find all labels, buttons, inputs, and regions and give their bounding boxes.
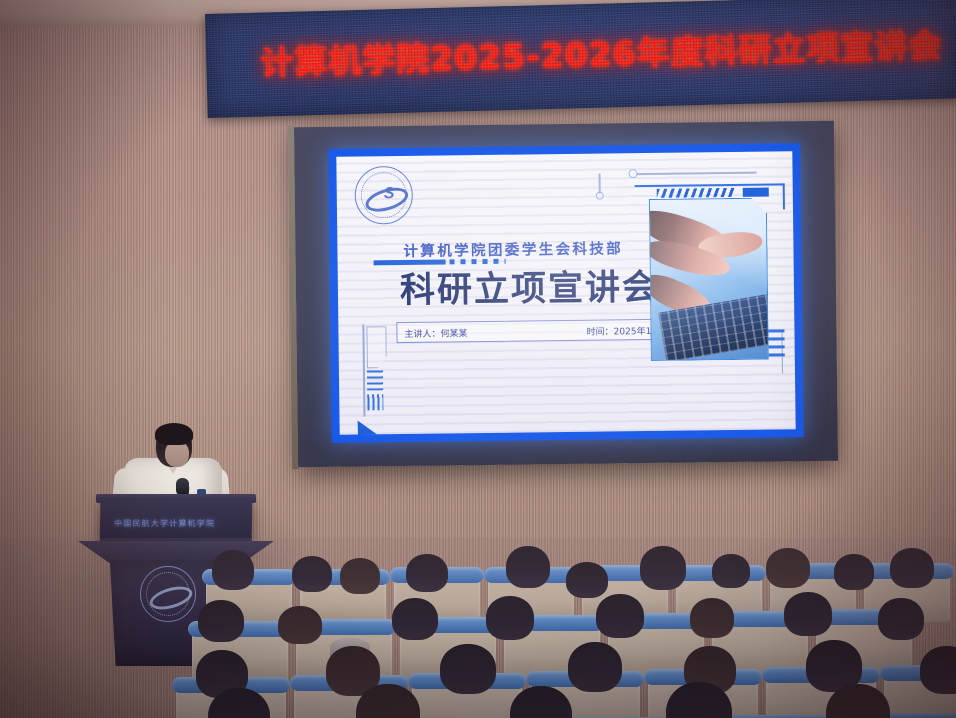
auditorium-scene: 计算机学院2025-2026年度科研立项宣讲会 S: [0, 0, 956, 718]
university-emblem-icon: S: [354, 166, 413, 225]
slide-footer-bar: 主讲人：何某某 时间：2025年12月12日: [396, 318, 694, 343]
slide-speaker-label: 主讲人：何某某: [404, 326, 467, 340]
slide-title: 科研立项宣讲会: [400, 259, 660, 313]
emblem-glyph: S: [384, 185, 397, 205]
slide-subtitle: 计算机学院团委学生会科技部: [403, 237, 623, 261]
slide-photo-laptop-hands: [649, 198, 769, 361]
podium-text: 中国民航大学计算机学院: [114, 518, 215, 529]
led-banner-text: 计算机学院2025-2026年度科研立项宣讲会: [260, 18, 956, 84]
projection-screen-bezel: S: [294, 121, 838, 468]
led-banner: 计算机学院2025-2026年度科研立项宣讲会: [205, 0, 956, 118]
slide-content: S: [336, 151, 795, 435]
audience-area: [0, 538, 956, 718]
speaker-hair: [155, 423, 193, 445]
presentation-slide: S: [328, 143, 804, 443]
